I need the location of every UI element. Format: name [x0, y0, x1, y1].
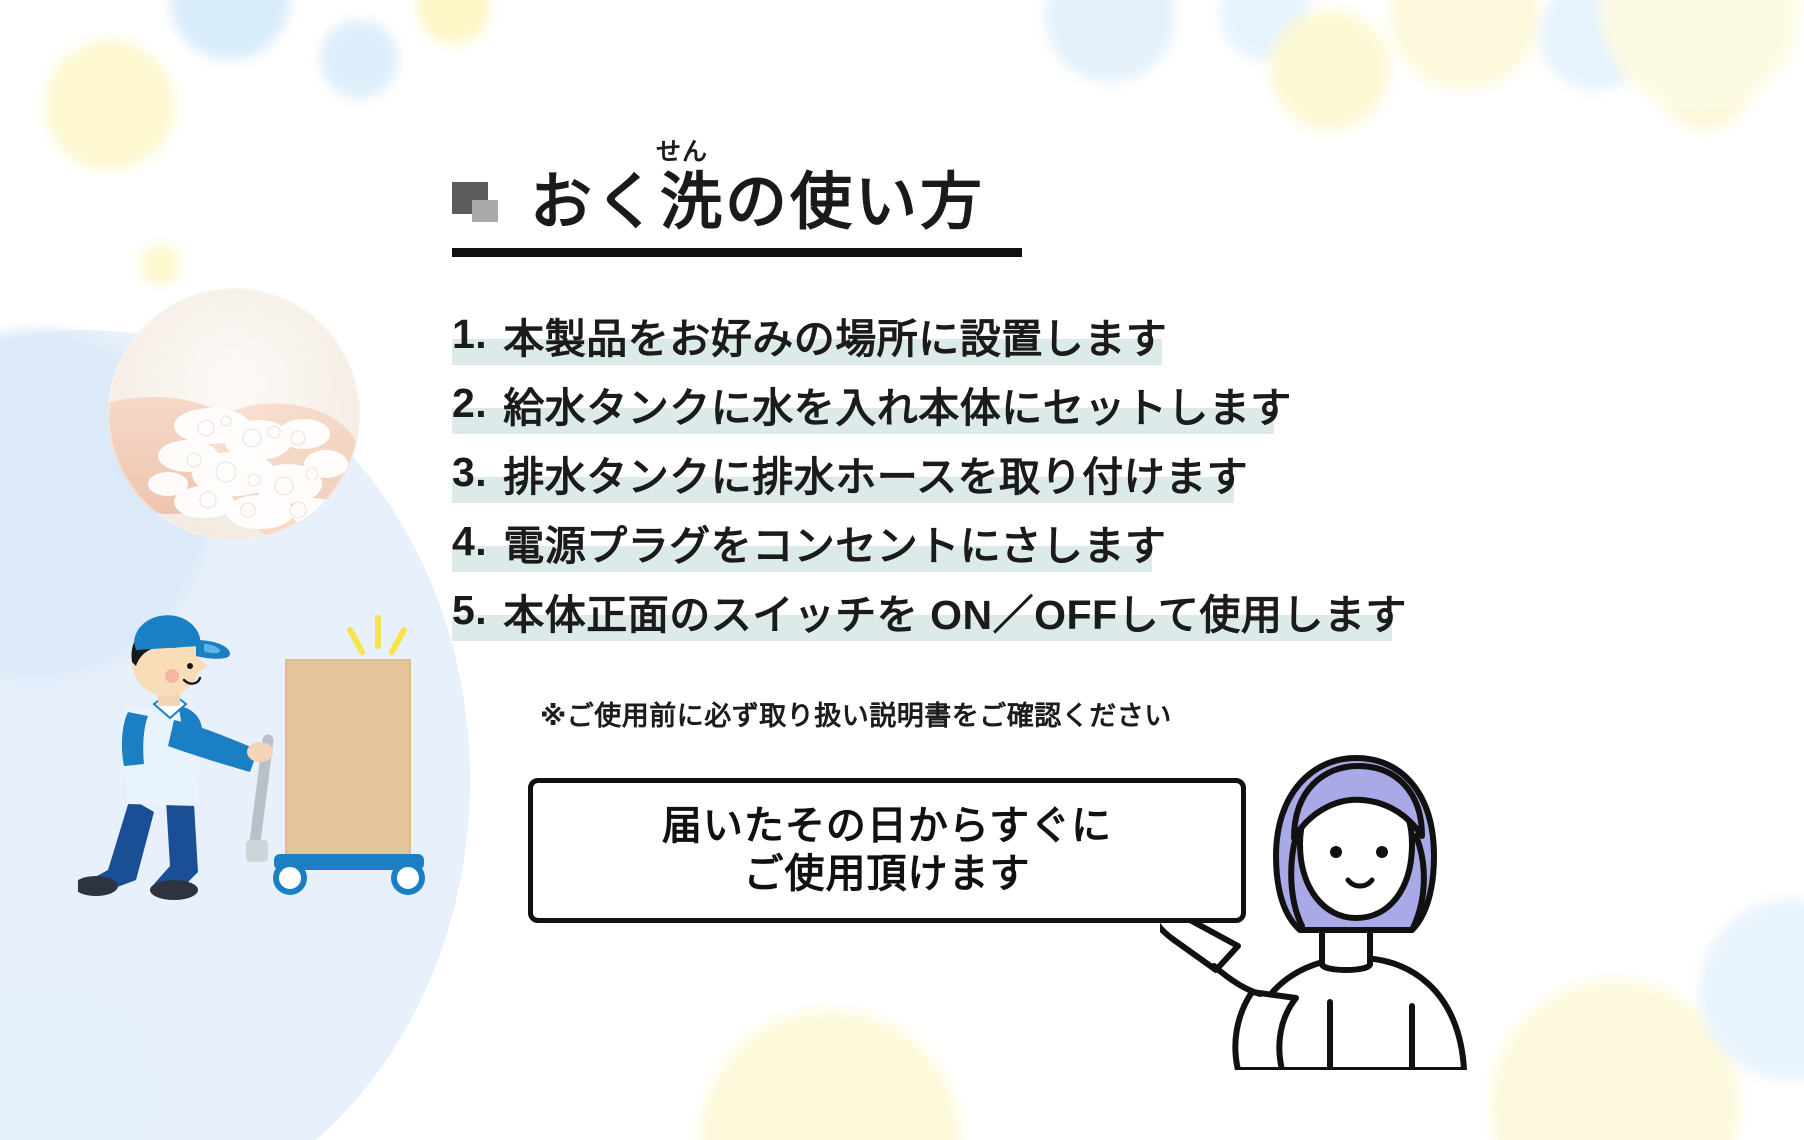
title-row: せん おく洗の使い方: [452, 156, 1132, 234]
bg-circle-yellow-5: [1390, 0, 1540, 90]
step-text: 本体正面のスイッチを ON／OFFして使用します: [503, 581, 1407, 641]
list-item: 5. 本体正面のスイッチを ON／OFFして使用します: [452, 576, 1512, 645]
step-number: 5.: [452, 587, 487, 634]
delivery-worker-graphic: [78, 600, 428, 900]
bubble-line-1: 届いたその日からすぐに: [662, 803, 1112, 850]
bg-circle-yellow-4: [1270, 10, 1390, 130]
bg-circle-blue-6: [1540, 0, 1650, 90]
bg-circle-yellow-1: [45, 40, 175, 170]
bg-circle-blue-5: [1220, 0, 1310, 60]
step-number: 1.: [452, 311, 487, 358]
bg-circle-yellow-6: [1660, 40, 1750, 130]
bg-circle-blue-8: [0, 980, 160, 1140]
step-number: 4.: [452, 518, 487, 565]
bg-circle-blue-4: [1045, 0, 1175, 82]
title-block: せん おく洗の使い方: [452, 156, 1132, 257]
title-ruby: せん: [656, 140, 708, 165]
step-number: 2.: [452, 380, 487, 427]
speech-bubble: 届いたその日からすぐに ご使用頂けます: [528, 778, 1246, 923]
step-text: 本製品をお好みの場所に設置します: [503, 305, 1167, 365]
page-title: おく洗の使い方: [530, 168, 985, 237]
title-underline-rule: [452, 248, 1022, 257]
delivery-worker-illustration: [78, 600, 428, 905]
usage-note: ※ご使用前に必ず取り扱い説明書をご確認ください: [540, 694, 1172, 733]
step-text: 電源プラグをコンセントにさします: [503, 512, 1166, 572]
bg-circle-yellow-7: [1600, 0, 1800, 110]
list-item: 3. 排水タンクに排水ホースを取り付けます: [452, 438, 1512, 507]
bg-circle-blue-3: [320, 20, 398, 98]
bg-circle-blue-7: [1700, 900, 1804, 1080]
hand-washing-photo-graphic: [108, 288, 360, 540]
square-light: [472, 200, 498, 222]
list-item: 1. 本製品をお好みの場所に設置します: [452, 300, 1512, 369]
list-item: 4. 電源プラグをコンセントにさします: [452, 507, 1512, 576]
steps-list: 1. 本製品をお好みの場所に設置します 2. 給水タンクに水を入れ本体にセットし…: [452, 300, 1512, 645]
step-text: 給水タンクに水を入れ本体にセットします: [503, 374, 1292, 434]
step-text: 排水タンクに排水ホースを取り付けます: [503, 443, 1248, 503]
bg-circle-yellow-8: [700, 1010, 960, 1140]
bg-circle-yellow-3: [418, 0, 490, 44]
step-number: 3.: [452, 449, 487, 496]
two-squares-icon: [452, 182, 504, 228]
bg-circle-yellow-2: [140, 245, 180, 285]
hand-washing-photo: [108, 288, 360, 540]
slide-root: せん おく洗の使い方 1. 本製品をお好みの場所に設置します 2. 給水タンクに…: [0, 0, 1804, 1140]
bg-circle-blue-2: [170, 0, 290, 60]
title-text-wrap: せん おく洗の使い方: [530, 172, 985, 234]
bubble-line-2: ご使用頂けます: [744, 851, 1031, 898]
list-item: 2. 給水タンクに水を入れ本体にセットします: [452, 369, 1512, 438]
